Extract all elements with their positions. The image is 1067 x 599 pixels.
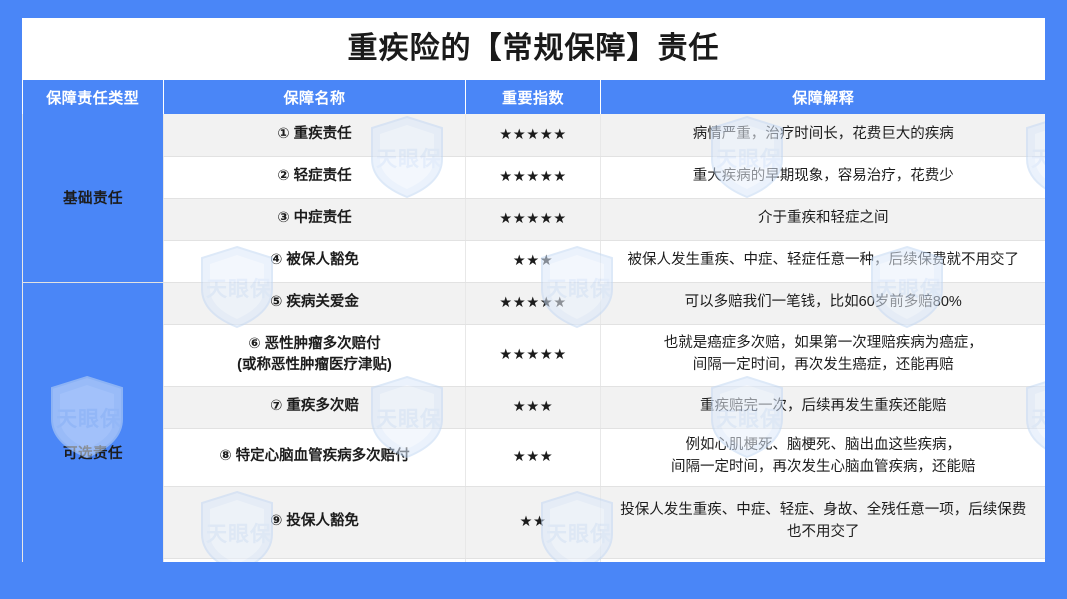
app-frame: 重疾险的【常规保障】责任 天眼保天眼保天眼保天眼保天眼保天眼保天眼保天眼保天眼保… [0,0,1067,599]
coverage-explanation-cell: 投保人发生重疾、中症、轻症、身故、全残任意一项，后续保费也不用交了 [601,486,1046,558]
table-row: 基础责任① 重疾责任★★★★★病情严重，治疗时间长，花费巨大的疾病 [23,114,1046,156]
importance-index-cell: ★★★ [466,386,601,428]
coverage-explanation-cell: 病情严重，治疗时间长，花费巨大的疾病 [601,114,1046,156]
table-body: 基础责任① 重疾责任★★★★★病情严重，治疗时间长，花费巨大的疾病② 轻症责任★… [23,114,1046,562]
coverage-explanation-cell: 可以多赔我们一笔钱，比如60岁前多赔80% [601,282,1046,324]
table-row: ④ 被保人豁免★★★被保人发生重疾、中症、轻症任意一种，后续保费就不用交了 [23,240,1046,282]
coverage-explanation-cell: 介于重疾和轻症之间 [601,198,1046,240]
importance-index-cell: ★★★ [466,428,601,486]
table-row: ② 轻症责任★★★★★重大疾病的早期现象，容易治疗，花费少 [23,156,1046,198]
coverage-explanation-cell: 例如心肌梗死、脑梗死、脑出血这些疾病，间隔一定时间，再次发生心脑血管疾病，还能赔 [601,428,1046,486]
coverage-explanation-cell: 被保人发生重疾、中症、轻症任意一种，后续保费就不用交了 [601,240,1046,282]
table-header-row: 保障责任类型 保障名称 重要指数 保障解释 [23,80,1046,114]
coverage-explanation-cell: 重大疾病的早期现象，容易治疗，花费少 [601,156,1046,198]
page-card: 重疾险的【常规保障】责任 天眼保天眼保天眼保天眼保天眼保天眼保天眼保天眼保天眼保… [22,18,1045,562]
importance-index-cell: ★★★★★ [466,156,601,198]
coverage-name-cell: ⑦ 重疾多次赔 [164,386,466,428]
coverage-name-cell: ① 重疾责任 [164,114,466,156]
responsibility-group-cell: 可选责任 [23,282,164,562]
coverage-name-cell: ④ 被保人豁免 [164,240,466,282]
importance-index-cell: ★★★★★ [466,282,601,324]
importance-index-cell: ★★ [466,486,601,558]
coverage-explanation-cell: 也就是癌症多次赔，如果第一次理赔疾病为癌症，间隔一定时间，再次发生癌症，还能再赔 [601,324,1046,386]
importance-index-cell: ★★★★★ [466,324,601,386]
importance-index-cell: ★★★ [466,240,601,282]
responsibility-group-cell: 基础责任 [23,114,164,282]
coverage-explanation-cell: 重疾赔完一次，后续再发生重疾还能赔 [601,386,1046,428]
table-row: ⑩ 身故/全残★★人不在了，或者达到全残状态，如植物人、双眼永久失明、全身瘫痪等 [23,558,1046,562]
coverage-name-cell: ⑥ 恶性肿瘤多次赔付(或称恶性肿瘤医疗津贴) [164,324,466,386]
column-header-coverage-explanation: 保障解释 [601,80,1046,114]
page-title: 重疾险的【常规保障】责任 [22,18,1045,80]
importance-index-cell: ★★ [466,558,601,562]
importance-index-cell: ★★★★★ [466,114,601,156]
coverage-name-cell: ⑧ 特定心脑血管疾病多次赔付 [164,428,466,486]
coverage-name-cell: ⑤ 疾病关爱金 [164,282,466,324]
table-head: 保障责任类型 保障名称 重要指数 保障解释 [23,80,1046,114]
table-row: ⑨ 投保人豁免★★投保人发生重疾、中症、轻症、身故、全残任意一项，后续保费也不用… [23,486,1046,558]
coverage-name-cell: ⑨ 投保人豁免 [164,486,466,558]
column-header-responsibility-type: 保障责任类型 [23,80,164,114]
coverage-explanation-cell: 人不在了，或者达到全残状态，如植物人、双眼永久失明、全身瘫痪等 [601,558,1046,562]
table-row: ③ 中症责任★★★★★介于重疾和轻症之间 [23,198,1046,240]
coverage-responsibility-table: 保障责任类型 保障名称 重要指数 保障解释 基础责任① 重疾责任★★★★★病情严… [22,80,1045,562]
table-row: 可选责任⑤ 疾病关爱金★★★★★可以多赔我们一笔钱，比如60岁前多赔80% [23,282,1046,324]
table-row: ⑦ 重疾多次赔★★★重疾赔完一次，后续再发生重疾还能赔 [23,386,1046,428]
table-row: ⑧ 特定心脑血管疾病多次赔付★★★例如心肌梗死、脑梗死、脑出血这些疾病，间隔一定… [23,428,1046,486]
column-header-coverage-name: 保障名称 [164,80,466,114]
coverage-name-cell: ⑩ 身故/全残 [164,558,466,562]
coverage-name-cell: ③ 中症责任 [164,198,466,240]
column-header-importance-index: 重要指数 [466,80,601,114]
importance-index-cell: ★★★★★ [466,198,601,240]
table-row: ⑥ 恶性肿瘤多次赔付(或称恶性肿瘤医疗津贴)★★★★★也就是癌症多次赔，如果第一… [23,324,1046,386]
coverage-name-cell: ② 轻症责任 [164,156,466,198]
